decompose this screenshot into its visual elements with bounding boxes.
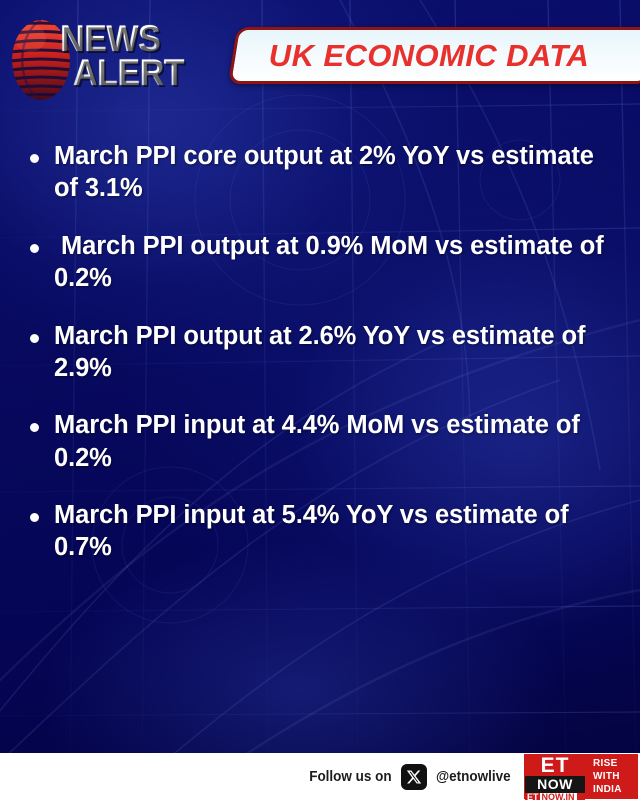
follow-us-group: Follow us on @etnowlive <box>303 764 516 790</box>
title-banner: UK ECONOMIC DATA <box>228 27 640 84</box>
social-handle[interactable]: @etnowlive <box>436 769 511 785</box>
list-item: March PPI input at 5.4% YoY vs estimate … <box>0 499 640 564</box>
etnow-logo: ET NOW ETNOW.IN RISE WITH INDIA <box>524 754 638 799</box>
footer-bar: Follow us on @etnowlive ET NOW ETNOW.IN … <box>0 753 640 800</box>
etnow-logo-website: ETNOW.IN <box>525 793 585 800</box>
etnow-logo-et: ET <box>525 755 585 776</box>
bullet-text: March PPI core output at 2% YoY vs estim… <box>54 140 614 205</box>
bullet-text: March PPI output at 2.6% YoY vs estimate… <box>54 320 614 385</box>
bullet-dot-icon <box>30 154 39 163</box>
tagline-line-2: WITH <box>593 770 638 783</box>
page-title: UK ECONOMIC DATA <box>228 27 640 84</box>
bullet-text: March PPI input at 5.4% YoY vs estimate … <box>54 499 614 564</box>
news-alert-line1: NEWS <box>60 22 184 56</box>
bullet-dot-icon <box>30 423 39 432</box>
bullet-text: March PPI input at 4.4% MoM vs estimate … <box>54 409 614 474</box>
bullet-list: March PPI core output at 2% YoY vs estim… <box>0 140 640 589</box>
x-twitter-icon[interactable] <box>401 764 427 790</box>
etnow-site-prefix: ET <box>526 793 540 800</box>
news-graphic-canvas: NEWS ALERT UK ECONOMIC DATA March PPI co… <box>0 0 640 800</box>
news-alert-logo: NEWS ALERT <box>60 22 184 91</box>
list-item: March PPI output at 0.9% MoM vs estimate… <box>0 230 640 295</box>
bullet-dot-icon <box>30 513 39 522</box>
header: NEWS ALERT UK ECONOMIC DATA <box>0 0 640 118</box>
tagline-line-3: INDIA <box>593 783 638 796</box>
etnow-tagline: RISE WITH INDIA <box>586 754 638 799</box>
etnow-logo-mark: ET NOW ETNOW.IN <box>524 754 586 799</box>
tagline-line-1: RISE <box>593 757 638 770</box>
bullet-dot-icon <box>30 244 39 253</box>
etnow-logo-now: NOW <box>525 776 585 793</box>
list-item: March PPI output at 2.6% YoY vs estimate… <box>0 320 640 385</box>
news-alert-line2: ALERT <box>60 56 184 90</box>
list-item: March PPI core output at 2% YoY vs estim… <box>0 140 640 205</box>
list-item: March PPI input at 4.4% MoM vs estimate … <box>0 409 640 474</box>
bullet-text: March PPI output at 0.9% MoM vs estimate… <box>54 230 614 295</box>
bullet-dot-icon <box>30 334 39 343</box>
etnow-site-suffix: NOW.IN <box>540 793 577 800</box>
follow-us-label: Follow us on <box>309 769 391 785</box>
